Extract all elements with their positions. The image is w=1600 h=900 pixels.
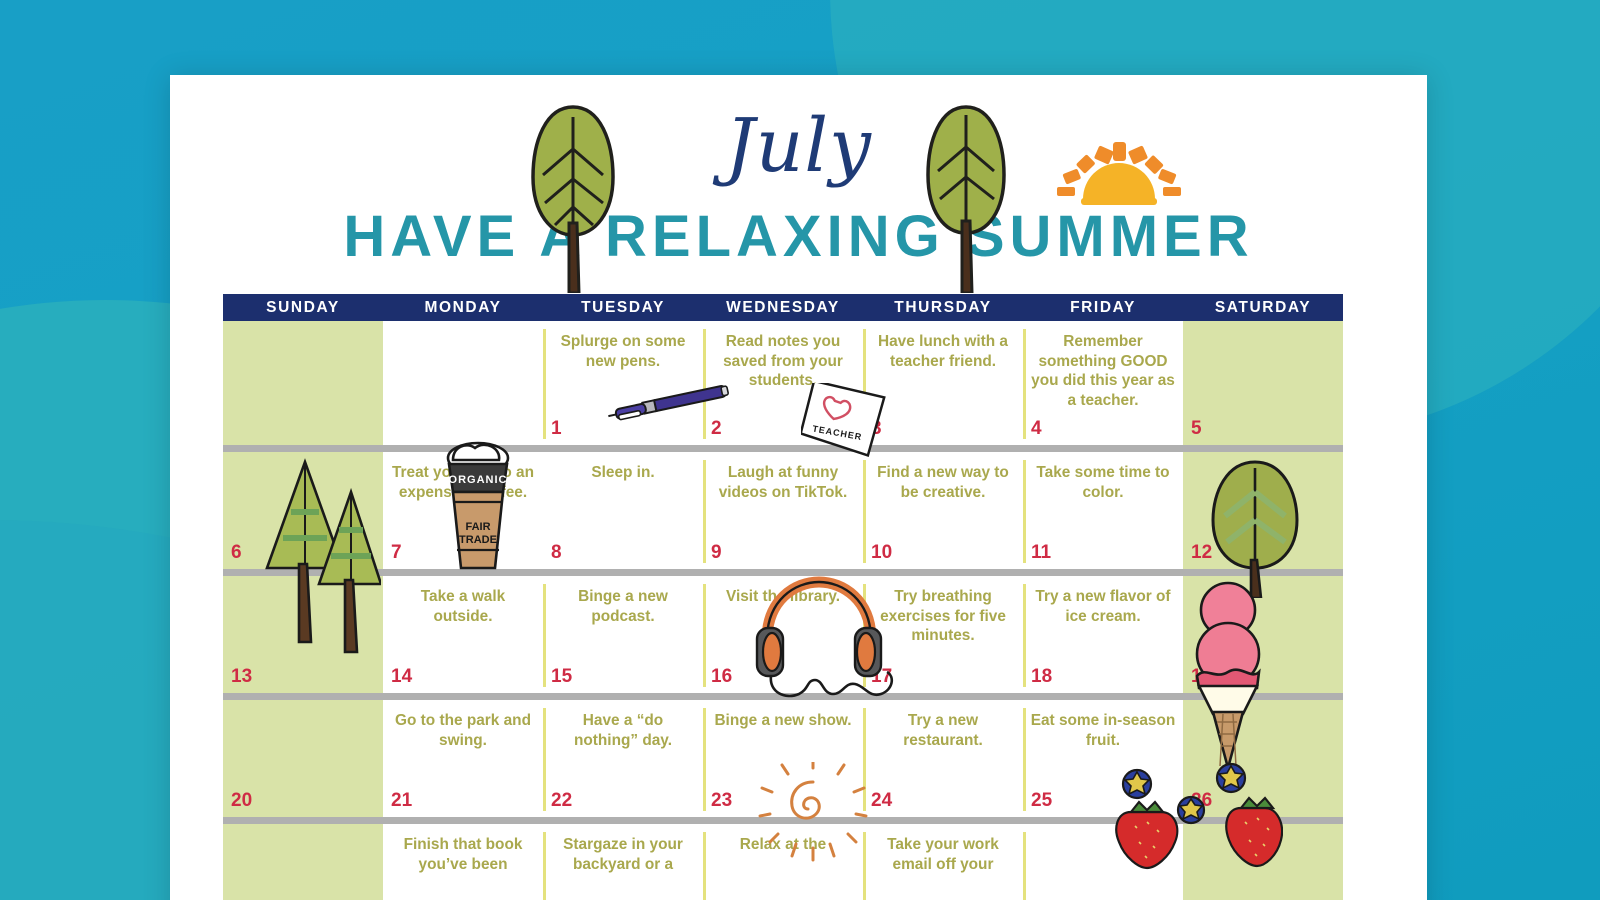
day-cell[interactable]: 19 [1183,576,1343,693]
svg-text:TRADE: TRADE [459,534,497,546]
day-task: Take some time to color. [1030,463,1176,502]
cell-divider [703,832,706,900]
day-number: 26 [1191,790,1212,812]
day-task: Eat some in-season fruit. [1030,711,1176,750]
cell-divider [1023,329,1026,439]
cell-divider [863,460,866,563]
day-cell[interactable] [1183,824,1343,900]
month-title: July [170,103,1427,189]
day-task: Visit the library. [710,587,856,607]
cell-divider [863,832,866,900]
day-number: 1 [551,418,562,440]
cell-divider [703,584,706,687]
day-cell[interactable]: 13 [223,576,383,693]
day-task: Try a new flavor of ice cream. [1030,587,1176,626]
day-number: 18 [1031,666,1052,688]
day-number: 4 [1031,418,1042,440]
day-task: Take a walk outside. [390,587,536,626]
day-number: 12 [1191,542,1212,564]
day-number: 11 [1031,542,1051,564]
day-task: Try breathing exercises for five minutes… [870,587,1016,646]
cell-divider [1023,832,1026,900]
calendar-week-row: 13 Take a walk outside. 14 Binge a new p… [223,569,1343,693]
coffee-cup-icon: ORGANIC FAIR TRADE [433,440,523,585]
calendar-week-row: 6 Treat yourself to an expensive coffee.… [223,445,1343,569]
day-task: Finish that book you’ve been [390,835,536,874]
day-number: 9 [711,542,722,564]
day-cell[interactable]: Laugh at funny videos on TikTok. 9 [703,452,863,569]
day-number: 20 [231,790,252,812]
day-task: Binge a new podcast. [550,587,696,626]
day-number: 3 [871,418,882,440]
day-cell[interactable]: Splurge on some new pens. 1 [543,321,703,445]
page-headline: HAVE A RELAXING SUMMER [170,203,1427,270]
day-task: Laugh at funny videos on TikTok. [710,463,856,502]
cell-divider [1023,708,1026,811]
day-task: Read notes you saved from your students. [710,332,856,391]
cell-divider [863,708,866,811]
weekday-tuesday: TUESDAY [543,294,703,321]
day-task: Take your work email off your [870,835,1016,874]
day-cell[interactable] [1023,824,1183,900]
day-task: Have lunch with a teacher friend. [870,332,1016,371]
day-cell[interactable]: Have lunch with a teacher friend. 3 [863,321,1023,445]
calendar-page: July HAVE A RELAXING SUMMER SUNDAY MONDA… [170,75,1427,900]
cell-divider [703,329,706,439]
day-cell[interactable]: Try a new restaurant. 24 [863,700,1023,817]
day-cell[interactable] [383,321,543,445]
day-number: 24 [871,790,892,812]
day-cell[interactable]: Read notes you saved from your students.… [703,321,863,445]
cell-divider [543,584,546,687]
calendar-week-row: Finish that book you’ve been Stargaze in… [223,817,1343,900]
svg-text:TEACHER: TEACHER [812,423,863,442]
day-cell[interactable]: Binge a new show. 23 [703,700,863,817]
day-number: 15 [551,666,572,688]
day-cell[interactable]: Take your work email off your [863,824,1023,900]
day-cell[interactable]: Go to the park and swing. 21 [383,700,543,817]
day-task: Remember something GOOD you did this yea… [1030,332,1176,411]
day-number: 8 [551,542,562,564]
weekday-friday: FRIDAY [1023,294,1183,321]
cell-divider [543,708,546,811]
day-number: 14 [391,666,412,688]
day-number: 19 [1191,666,1212,688]
day-number: 16 [711,666,732,688]
svg-text:FAIR: FAIR [465,521,490,533]
day-number: 22 [551,790,572,812]
day-task: Treat yourself to an expensive coffee. [390,463,536,502]
day-cell[interactable]: 5 [1183,321,1343,445]
day-cell[interactable] [223,321,383,445]
day-cell[interactable]: Find a new way to be creative. 10 [863,452,1023,569]
day-cell[interactable] [223,824,383,900]
day-cell[interactable]: Have a “do nothing” day. 22 [543,700,703,817]
cell-divider [863,329,866,439]
weekday-header-row: SUNDAY MONDAY TUESDAY WEDNESDAY THURSDAY… [223,294,1343,321]
weekday-thursday: THURSDAY [863,294,1023,321]
weekday-saturday: SATURDAY [1183,294,1343,321]
day-number: 7 [391,542,402,564]
cell-divider [703,708,706,811]
day-task: Have a “do nothing” day. [550,711,696,750]
cell-divider [1023,584,1026,687]
day-cell[interactable]: Remember something GOOD you did this yea… [1023,321,1183,445]
day-cell[interactable]: Relax at the [703,824,863,900]
day-cell[interactable]: Binge a new podcast. 15 [543,576,703,693]
day-cell[interactable]: Visit the library. 16 [703,576,863,693]
day-number: 6 [231,542,242,564]
day-task: Try a new restaurant. [870,711,1016,750]
weekday-sunday: SUNDAY [223,294,383,321]
day-cell[interactable]: Finish that book you’ve been [383,824,543,900]
calendar-grid: Splurge on some new pens. 1 Read notes y… [223,321,1343,900]
cell-divider [863,584,866,687]
day-task: Relax at the [710,835,856,855]
day-task: Find a new way to be creative. [870,463,1016,502]
day-number: 10 [871,542,892,564]
day-cell[interactable]: 6 [223,452,383,569]
calendar-week-row: 20 Go to the park and swing. 21 Have a “… [223,693,1343,817]
day-number: 17 [871,666,892,688]
day-cell[interactable]: Try a new flavor of ice cream. 18 [1023,576,1183,693]
day-number: 21 [391,790,412,812]
day-number: 13 [231,666,252,688]
day-number: 25 [1031,790,1052,812]
day-cell[interactable]: Eat some in-season fruit. 25 [1023,700,1183,817]
day-cell[interactable]: 12 [1183,452,1343,569]
day-number: 23 [711,790,732,812]
day-task: Splurge on some new pens. [550,332,696,371]
weekday-monday: MONDAY [383,294,543,321]
day-cell[interactable]: Try breathing exercises for five minutes… [863,576,1023,693]
weekday-wednesday: WEDNESDAY [703,294,863,321]
day-cell[interactable]: 20 [223,700,383,817]
day-cell[interactable]: 26 [1183,700,1343,817]
calendar-masthead: July HAVE A RELAXING SUMMER [170,75,1427,290]
cell-divider [703,460,706,563]
day-cell[interactable]: Stargaze in your backyard or a [543,824,703,900]
day-number: 5 [1191,418,1202,440]
cell-divider [1023,460,1026,563]
day-task: Binge a new show. [710,711,856,731]
day-cell[interactable]: Treat yourself to an expensive coffee. O… [383,452,543,569]
day-task: Sleep in. [550,463,696,483]
day-cell[interactable]: Sleep in. 8 [543,452,703,569]
calendar-week-row: Splurge on some new pens. 1 Read notes y… [223,321,1343,445]
day-task: Stargaze in your backyard or a [550,835,696,874]
cell-divider [543,832,546,900]
cell-divider [543,329,546,439]
day-task: Go to the park and swing. [390,711,536,750]
day-cell[interactable]: Take a walk outside. 14 [383,576,543,693]
day-number: 2 [711,418,722,440]
day-cell[interactable]: Take some time to color. 11 [1023,452,1183,569]
